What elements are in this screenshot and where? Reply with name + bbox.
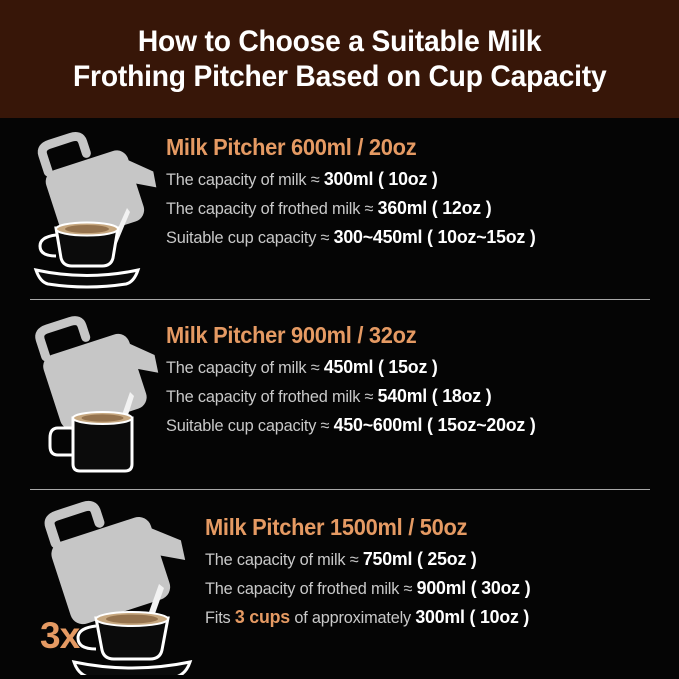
fits-cups-row: Fits 3 cups of approximately 300ml ( 10o…	[205, 603, 660, 632]
row-label: The capacity of frothed milk ≈	[205, 579, 417, 598]
row-label: The capacity of frothed milk ≈	[166, 199, 378, 218]
pitcher-section-600ml: Milk Pitcher 600ml / 20oz The capacity o…	[0, 124, 679, 289]
section-text-600ml: Milk Pitcher 600ml / 20oz The capacity o…	[166, 132, 678, 252]
section-text-1500ml: Milk Pitcher 1500ml / 50oz The capacity …	[205, 512, 679, 632]
capacity-of-milk-row: The capacity of milk ≈ 300ml ( 10oz )	[166, 165, 658, 194]
page-title-line-1: How to Choose a Suitable Milk	[138, 24, 541, 59]
section-title: Milk Pitcher 900ml / 32oz	[166, 320, 652, 350]
page-title-line-2: Frothing Pitcher Based on Cup Capacity	[73, 59, 606, 94]
row-value: 300ml ( 10oz )	[324, 168, 438, 189]
row-label: Suitable cup capacity ≈	[166, 416, 334, 435]
row-value: 300~450ml ( 10oz~15oz )	[334, 226, 536, 247]
row-label: The capacity of milk ≈	[166, 170, 324, 189]
capacity-of-milk-row: The capacity of milk ≈ 450ml ( 15oz )	[166, 353, 658, 382]
pitcher-cup-icon-1500ml: 3x	[18, 500, 203, 675]
row-label: Fits	[205, 608, 235, 627]
pitcher-pouring-into-cup-with-saucer-icon	[14, 124, 164, 289]
row-label: The capacity of milk ≈	[205, 550, 363, 569]
row-value: 300ml ( 10oz )	[415, 606, 529, 627]
section-title: Milk Pitcher 1500ml / 50oz	[205, 512, 655, 542]
capacity-of-frothed-milk-row: The capacity of frothed milk ≈ 360ml ( 1…	[166, 194, 658, 223]
pitcher-section-900ml: Milk Pitcher 900ml / 32oz The capacity o…	[0, 312, 679, 482]
row-value: 450~600ml ( 15oz~20oz )	[334, 414, 536, 435]
row-value: 900ml ( 30oz )	[417, 577, 531, 598]
multiplier-badge: 3x	[40, 616, 79, 656]
pitcher-cup-icon-600ml	[14, 124, 164, 289]
capacity-of-frothed-milk-row: The capacity of frothed milk ≈ 900ml ( 3…	[205, 574, 660, 603]
row-value: 360ml ( 12oz )	[378, 197, 492, 218]
section-text-900ml: Milk Pitcher 900ml / 32oz The capacity o…	[166, 320, 678, 440]
row-label: The capacity of milk ≈	[166, 358, 324, 377]
row-label-2: of approximately	[290, 608, 415, 627]
suitable-cup-capacity-row: Suitable cup capacity ≈ 300~450ml ( 10oz…	[166, 223, 658, 252]
row-label: The capacity of frothed milk ≈	[166, 387, 378, 406]
suitable-cup-capacity-row: Suitable cup capacity ≈ 450~600ml ( 15oz…	[166, 411, 658, 440]
capacity-of-milk-row: The capacity of milk ≈ 750ml ( 25oz )	[205, 545, 660, 574]
pitcher-mug-icon-900ml	[14, 312, 164, 482]
page-header: How to Choose a Suitable Milk Frothing P…	[0, 0, 679, 118]
pitcher-section-1500ml: 3x Milk Pitcher 1500ml / 50oz The capaci…	[0, 500, 679, 675]
infographic-page: How to Choose a Suitable Milk Frothing P…	[0, 0, 679, 679]
row-label: Suitable cup capacity ≈	[166, 228, 334, 247]
capacity-of-frothed-milk-row: The capacity of frothed milk ≈ 540ml ( 1…	[166, 382, 658, 411]
section-title: Milk Pitcher 600ml / 20oz	[166, 132, 652, 162]
row-value: 750ml ( 25oz )	[363, 548, 477, 569]
section-divider-1	[30, 299, 650, 300]
section-divider-2	[30, 489, 650, 490]
pitcher-pouring-into-mug-icon	[14, 312, 164, 482]
row-value: 540ml ( 18oz )	[378, 385, 492, 406]
row-accent: 3 cups	[235, 606, 290, 627]
row-value: 450ml ( 15oz )	[324, 356, 438, 377]
